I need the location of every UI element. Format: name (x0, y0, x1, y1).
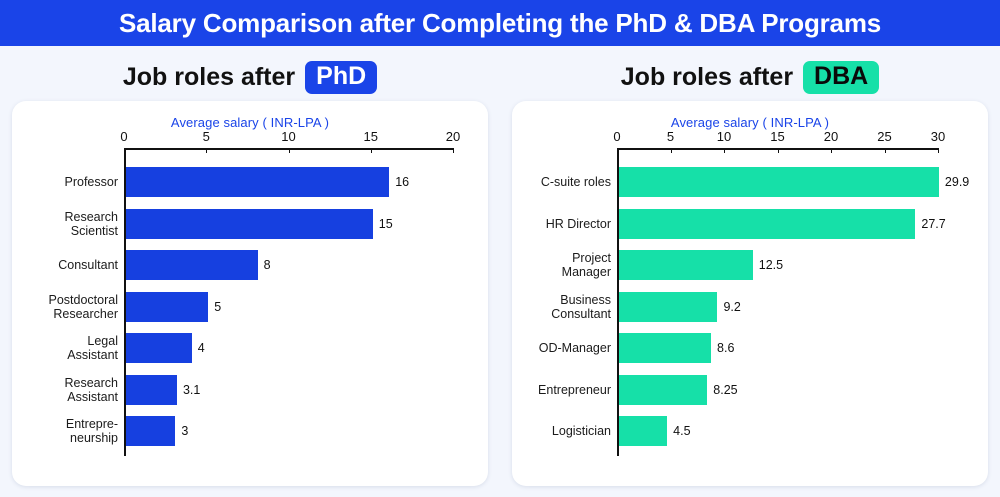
bar-category-label: Entrepreneur (512, 383, 611, 397)
x-axis-tick (671, 148, 672, 153)
bar (619, 209, 915, 239)
bar-value-label: 8.6 (717, 341, 734, 355)
bar-value-label: 8 (264, 258, 271, 272)
bar-chart-phd: 05101520Professor16Research Scientist15C… (12, 101, 488, 486)
x-axis-tick-label: 30 (931, 129, 945, 144)
x-axis-tick (617, 148, 618, 153)
bar-category-label: OD-Manager (512, 341, 611, 355)
bar-value-label: 3 (181, 424, 188, 438)
x-axis-tick (831, 148, 832, 153)
x-axis-tick-label: 15 (770, 129, 784, 144)
bar-category-label: Postdoctoral Researcher (14, 293, 118, 321)
bar-row: HR Director27.7 (512, 209, 988, 239)
bar (126, 292, 208, 322)
page-title: Salary Comparison after Completing the P… (119, 8, 881, 39)
badge-phd: PhD (305, 61, 377, 94)
bar-row: Consultant8 (12, 250, 488, 280)
x-axis-tick-label: 0 (613, 129, 620, 144)
bar-row: Research Assistant3.1 (12, 375, 488, 405)
badge-dba: DBA (803, 61, 879, 94)
bar (126, 209, 373, 239)
chart-card-dba: Average salary ( INR-LPA ) 051015202530C… (512, 101, 988, 486)
chart-card-phd: Average salary ( INR-LPA ) 05101520Profe… (12, 101, 488, 486)
bar-category-label: Professor (14, 175, 118, 189)
bar (126, 250, 258, 280)
bar-category-label: Logistician (512, 424, 611, 438)
bar (619, 333, 711, 363)
bar (126, 416, 175, 446)
x-axis-tick (778, 148, 779, 153)
bar-row: Legal Assistant4 (12, 333, 488, 363)
bar-value-label: 16 (395, 175, 409, 189)
bar (619, 375, 707, 405)
x-axis-tick (206, 148, 207, 153)
bar-value-label: 4.5 (673, 424, 690, 438)
section-heading-dba: Job roles after DBA (510, 57, 990, 97)
x-axis-tick-label: 5 (667, 129, 674, 144)
bar-category-label: HR Director (512, 217, 611, 231)
bar-value-label: 27.7 (921, 217, 945, 231)
x-axis-tick-label: 5 (203, 129, 210, 144)
bar-category-label: Legal Assistant (14, 334, 118, 362)
bar-category-label: Research Scientist (14, 210, 118, 238)
bar-category-label: Consultant (14, 258, 118, 272)
x-axis-tick-label: 20 (824, 129, 838, 144)
x-axis-tick (371, 148, 372, 153)
bar-row: Business Consultant9.2 (512, 292, 988, 322)
bar-category-label: Project Manager (512, 251, 611, 279)
x-axis-tick-label: 10 (281, 129, 295, 144)
header-band: Salary Comparison after Completing the P… (0, 0, 1000, 46)
bar-row: Logistician4.5 (512, 416, 988, 446)
bar-row: OD-Manager8.6 (512, 333, 988, 363)
bar-value-label: 5 (214, 300, 221, 314)
x-axis-tick-label: 0 (120, 129, 127, 144)
bar-value-label: 4 (198, 341, 205, 355)
x-axis-tick (885, 148, 886, 153)
bar-category-label: C-suite roles (512, 175, 611, 189)
bar (619, 250, 753, 280)
bar-chart-dba: 051015202530C-suite roles29.9HR Director… (512, 101, 988, 486)
bar-row: Research Scientist15 (12, 209, 488, 239)
bar (126, 333, 192, 363)
x-axis-tick (724, 148, 725, 153)
x-axis-tick (289, 148, 290, 153)
bar (619, 292, 717, 322)
x-axis-tick (124, 148, 125, 153)
bar-value-label: 8.25 (713, 383, 737, 397)
bar-value-label: 12.5 (759, 258, 783, 272)
bar-row: Entrepre- neurship3 (12, 416, 488, 446)
bar-row: C-suite roles29.9 (512, 167, 988, 197)
x-axis-tick (938, 148, 939, 153)
x-axis-tick-label: 20 (446, 129, 460, 144)
section-heading-phd-text: Job roles after (123, 63, 295, 92)
x-axis-tick-label: 25 (877, 129, 891, 144)
x-axis-tick-label: 10 (717, 129, 731, 144)
x-axis-tick-label: 15 (364, 129, 378, 144)
bar (126, 375, 177, 405)
bar-value-label: 3.1 (183, 383, 200, 397)
x-axis-tick (453, 148, 454, 153)
bar-row: Postdoctoral Researcher5 (12, 292, 488, 322)
section-heading-phd: Job roles after PhD (10, 57, 490, 97)
bar (619, 167, 939, 197)
bar-value-label: 15 (379, 217, 393, 231)
bar-category-label: Entrepre- neurship (14, 417, 118, 445)
bar-row: Entrepreneur8.25 (512, 375, 988, 405)
bar (126, 167, 389, 197)
bar (619, 416, 667, 446)
bar-category-label: Research Assistant (14, 376, 118, 404)
bar-category-label: Business Consultant (512, 293, 611, 321)
bar-row: Project Manager12.5 (512, 250, 988, 280)
bar-value-label: 29.9 (945, 175, 969, 189)
bar-value-label: 9.2 (723, 300, 740, 314)
section-heading-dba-text: Job roles after (621, 63, 793, 92)
bar-row: Professor16 (12, 167, 488, 197)
